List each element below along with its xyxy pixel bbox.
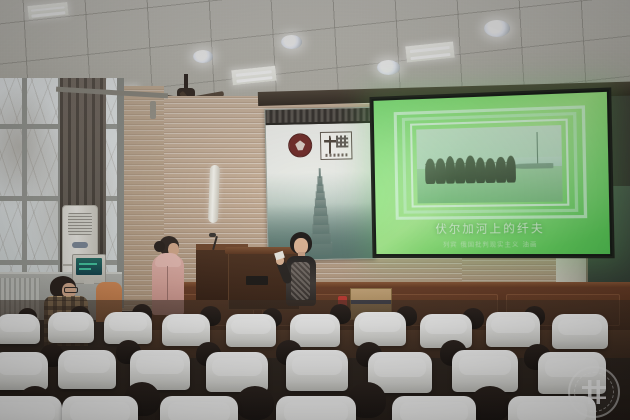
wall-sconce-icon xyxy=(208,165,220,223)
seat xyxy=(392,396,476,420)
seat xyxy=(276,396,356,420)
slide-title: 伏尔加河上的纤夫 xyxy=(376,219,610,237)
laptop xyxy=(246,276,268,285)
seat xyxy=(62,396,138,420)
monitor-screen xyxy=(76,258,102,275)
seat xyxy=(354,312,406,346)
seated-student-audience xyxy=(0,300,630,420)
projection-screen: 伏尔加河上的纤夫 列宾 俄国批判现实主义 油画 xyxy=(369,87,614,258)
microphone-head xyxy=(209,233,216,237)
slide-subtitle: 列宾 俄国批判现实主义 油画 xyxy=(376,239,610,249)
barge-haulers-painting xyxy=(416,125,562,203)
seat xyxy=(48,312,94,343)
downlight-icon xyxy=(281,35,302,49)
banner-eaves xyxy=(264,108,373,125)
seat xyxy=(286,350,348,391)
downlight-icon xyxy=(377,60,400,75)
seat xyxy=(0,396,62,420)
audience-head xyxy=(470,386,510,420)
seat xyxy=(0,352,48,390)
audience-head xyxy=(236,386,274,420)
seat xyxy=(162,314,210,346)
projected-image: 伏尔加河上的纤夫 列宾 俄国批判现实主义 油画 xyxy=(374,92,611,254)
downlight-icon xyxy=(193,50,213,63)
circular-school-emblem-icon xyxy=(288,133,312,157)
downlight-icon xyxy=(484,20,510,37)
curtain-hook xyxy=(150,101,156,119)
seat xyxy=(486,312,540,347)
seat xyxy=(0,314,40,344)
seat xyxy=(552,314,608,349)
photo-scene: 伏尔加河上的纤夫 列宾 俄国批判现实主义 油画 xyxy=(0,0,630,420)
seat xyxy=(58,350,116,389)
seat xyxy=(160,396,238,420)
circular-window-watermark xyxy=(568,366,620,418)
square-seal-logo-icon xyxy=(320,131,353,160)
seat xyxy=(226,314,276,347)
